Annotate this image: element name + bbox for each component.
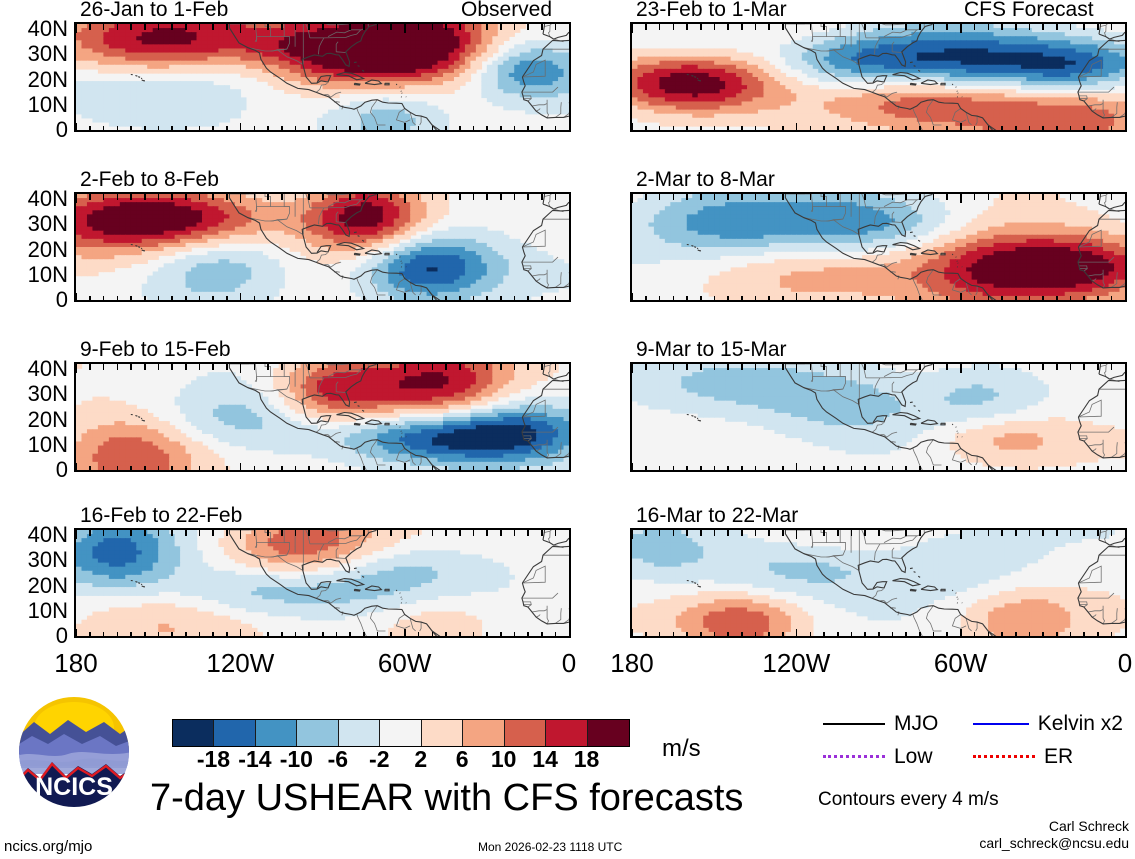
axis-tick [445, 530, 447, 536]
axis-tick [892, 530, 894, 536]
axis-tick [158, 466, 160, 472]
axis-tick [960, 293, 962, 302]
axis-tick [946, 24, 948, 30]
axis-tick [89, 126, 91, 132]
axis-tick [727, 530, 729, 536]
axis-tick [933, 24, 935, 30]
axis-tick [144, 530, 146, 536]
axis-tick [308, 194, 310, 200]
x-axis-label: 180 [610, 650, 653, 676]
axis-tick [377, 296, 379, 302]
colorbar-segment [505, 720, 546, 746]
axis-tick [960, 463, 962, 472]
axis-tick [851, 126, 853, 132]
axis-tick [240, 194, 242, 203]
axis-tick [117, 530, 119, 536]
axis-tick [158, 530, 160, 536]
axis-tick [1111, 364, 1113, 370]
axis-tick [473, 632, 475, 638]
axis-tick [686, 126, 688, 132]
axis-tick [336, 126, 338, 132]
axis-tick [1042, 194, 1044, 200]
axis-tick [714, 632, 716, 638]
axis-tick [500, 632, 502, 638]
axis-tick [500, 364, 502, 370]
axis-tick [1125, 123, 1127, 132]
axis-tick [514, 364, 516, 370]
axis-tick [1042, 364, 1044, 370]
axis-tick [974, 126, 976, 132]
axis-tick [445, 24, 447, 30]
axis-tick [254, 296, 256, 302]
axis-tick [1097, 194, 1099, 200]
axis-tick [226, 296, 228, 302]
axis-tick [659, 632, 661, 638]
colorbar-segment [297, 720, 338, 746]
axis-tick [700, 364, 702, 370]
axis-tick [1097, 24, 1099, 30]
axis-tick [1083, 194, 1085, 200]
axis-tick [727, 24, 729, 30]
column-label-observed: Observed [461, 0, 552, 20]
axis-tick [76, 463, 78, 472]
axis-tick [974, 632, 976, 638]
axis-tick [700, 24, 702, 30]
axis-tick [796, 194, 798, 203]
axis-tick [226, 530, 228, 536]
axis-tick [185, 296, 187, 302]
axis-tick [755, 632, 757, 638]
axis-tick [1029, 126, 1031, 132]
axis-tick [700, 194, 702, 200]
axis-tick [946, 530, 948, 536]
axis-tick [171, 364, 173, 370]
axis-tick [130, 632, 132, 638]
axis-tick [823, 296, 825, 302]
axis-tick [199, 296, 201, 302]
axis-tick [130, 530, 132, 536]
axis-tick [1029, 364, 1031, 370]
axis-tick [500, 24, 502, 30]
axis-tick [404, 293, 406, 302]
axis-tick [541, 24, 543, 30]
axis-tick [974, 466, 976, 472]
axis-tick [171, 530, 173, 536]
axis-tick [486, 466, 488, 472]
axis-tick [864, 632, 866, 638]
axis-tick [905, 126, 907, 132]
axis-tick [1056, 126, 1058, 132]
axis-tick [645, 296, 647, 302]
axis-tick [377, 194, 379, 200]
axis-tick [1125, 463, 1127, 472]
axis-tick [988, 632, 990, 638]
y-axis-label: 0 [0, 119, 68, 141]
axis-tick [117, 632, 119, 638]
axis-tick [933, 126, 935, 132]
axis-tick [158, 364, 160, 370]
legend-item-mjo: MJO [823, 713, 973, 734]
axis-tick [459, 632, 461, 638]
map-panel [630, 192, 1127, 302]
axis-tick [527, 194, 529, 200]
axis-tick [500, 466, 502, 472]
axis-tick [295, 364, 297, 370]
axis-tick [281, 194, 283, 200]
panel-title: 16-Mar to 22-Mar [636, 505, 798, 526]
axis-tick [782, 296, 784, 302]
axis-tick [363, 296, 365, 302]
axis-tick [377, 24, 379, 30]
axis-tick [837, 194, 839, 200]
axis-tick [322, 126, 324, 132]
axis-tick [89, 24, 91, 30]
axis-tick [390, 126, 392, 132]
axis-tick [254, 126, 256, 132]
axis-tick [555, 296, 557, 302]
axis-tick [700, 296, 702, 302]
axis-tick [569, 194, 571, 203]
colorbar-tick-label: -6 [328, 748, 348, 771]
axis-tick [541, 632, 543, 638]
y-axis-label: 10N [0, 94, 68, 116]
axis-tick [632, 463, 634, 472]
axis-tick [892, 126, 894, 132]
axis-tick [212, 364, 214, 370]
axis-tick [741, 194, 743, 200]
axis-tick [1001, 24, 1003, 30]
axis-tick [555, 466, 557, 472]
axis-tick [1125, 293, 1127, 302]
axis-tick [377, 364, 379, 370]
axis-tick [755, 24, 757, 30]
axis-tick [919, 364, 921, 370]
axis-tick [363, 126, 365, 132]
axis-tick [1083, 632, 1085, 638]
axis-tick [1125, 24, 1127, 33]
axis-tick [796, 364, 798, 373]
axis-tick [1097, 466, 1099, 472]
axis-tick [1015, 126, 1017, 132]
axis-tick [322, 632, 324, 638]
axis-tick [933, 632, 935, 638]
axis-tick [1111, 632, 1113, 638]
axis-tick [308, 530, 310, 536]
axis-tick [673, 24, 675, 30]
axis-tick [514, 530, 516, 536]
axis-tick [727, 466, 729, 472]
axis-tick [1111, 194, 1113, 200]
axis-tick [130, 194, 132, 200]
axis-tick [199, 24, 201, 30]
axis-tick [144, 632, 146, 638]
axis-tick [892, 364, 894, 370]
axis-tick [714, 296, 716, 302]
legend-row: LowER [823, 746, 1123, 767]
axis-tick [1056, 466, 1058, 472]
axis-tick [295, 126, 297, 132]
axis-tick [569, 24, 571, 33]
axis-tick [445, 466, 447, 472]
axis-tick [741, 632, 743, 638]
axis-tick [851, 194, 853, 200]
axis-tick [459, 364, 461, 370]
axis-tick [158, 632, 160, 638]
axis-tick [823, 530, 825, 536]
axis-tick [254, 364, 256, 370]
axis-tick [659, 296, 661, 302]
axis-tick [632, 293, 634, 302]
axis-tick [727, 296, 729, 302]
x-axis-label: 0 [562, 650, 576, 676]
axis-tick [432, 24, 434, 30]
axis-tick [1111, 24, 1113, 30]
axis-tick [864, 126, 866, 132]
axis-tick [946, 126, 948, 132]
axis-tick [796, 629, 798, 638]
axis-tick [1056, 530, 1058, 536]
axis-tick [432, 126, 434, 132]
axis-tick [1056, 194, 1058, 200]
axis-tick [103, 126, 105, 132]
colorbar-tick-label: 10 [491, 748, 517, 771]
axis-tick [632, 194, 634, 203]
axis-tick [988, 364, 990, 370]
axis-tick [390, 530, 392, 536]
site-url-label: ncics.org/mjo [4, 838, 92, 855]
axis-tick [1029, 194, 1031, 200]
axis-tick [514, 466, 516, 472]
y-axis-label: 0 [0, 289, 68, 311]
axis-tick [645, 24, 647, 30]
axis-tick [555, 530, 557, 536]
axis-tick [837, 364, 839, 370]
axis-tick [714, 466, 716, 472]
axis-tick [768, 24, 770, 30]
axis-tick [363, 632, 365, 638]
axis-tick [432, 364, 434, 370]
axis-tick [404, 530, 406, 539]
ncics-logo: NCICS [16, 694, 132, 810]
axis-tick [240, 463, 242, 472]
axis-tick [933, 364, 935, 370]
axis-tick [782, 466, 784, 472]
axis-tick [974, 296, 976, 302]
axis-tick [171, 194, 173, 200]
axis-tick [1056, 296, 1058, 302]
axis-tick [185, 126, 187, 132]
axis-tick [473, 24, 475, 30]
axis-tick [823, 632, 825, 638]
axis-tick [960, 530, 962, 539]
axis-tick [308, 364, 310, 370]
axis-tick [185, 364, 187, 370]
axis-tick [254, 24, 256, 30]
axis-tick [974, 530, 976, 536]
axis-tick [919, 296, 921, 302]
contours-note: Contours every 4 m/s [818, 789, 999, 811]
colorbar-segment [463, 720, 504, 746]
axis-tick [1111, 296, 1113, 302]
colorbar-units-label: m/s [662, 735, 701, 763]
axis-tick [130, 364, 132, 370]
axis-tick [755, 530, 757, 536]
axis-tick [892, 296, 894, 302]
y-axis-label: 10N [0, 434, 68, 456]
panel-title: 2-Mar to 8-Mar [636, 169, 775, 190]
axis-tick [823, 126, 825, 132]
axis-tick [254, 466, 256, 472]
axis-tick [569, 629, 571, 638]
axis-tick [267, 126, 269, 132]
axis-tick [1111, 530, 1113, 536]
y-axis-label: 30N [0, 383, 68, 405]
axis-tick [418, 296, 420, 302]
axis-tick [267, 194, 269, 200]
axis-tick [500, 194, 502, 200]
axis-tick [363, 466, 365, 472]
y-axis-label: 40N [0, 18, 68, 40]
axis-tick [144, 466, 146, 472]
y-axis-label: 20N [0, 239, 68, 261]
axis-tick [281, 530, 283, 536]
axis-tick [796, 293, 798, 302]
axis-tick [212, 632, 214, 638]
panel-title: 16-Feb to 22-Feb [80, 505, 242, 526]
axis-tick [445, 126, 447, 132]
axis-tick [117, 466, 119, 472]
axis-tick [527, 296, 529, 302]
colorbar-segment [339, 720, 380, 746]
axis-tick [755, 364, 757, 370]
axis-tick [878, 632, 880, 638]
axis-tick [755, 194, 757, 200]
axis-tick [404, 194, 406, 203]
axis-tick [768, 194, 770, 200]
axis-tick [514, 632, 516, 638]
axis-tick [686, 364, 688, 370]
axis-tick [1001, 126, 1003, 132]
axis-tick [103, 296, 105, 302]
axis-tick [1015, 530, 1017, 536]
axis-tick [837, 632, 839, 638]
axis-tick [645, 364, 647, 370]
axis-tick [76, 24, 78, 33]
axis-tick [514, 296, 516, 302]
axis-tick [1083, 296, 1085, 302]
axis-tick [988, 194, 990, 200]
axis-tick [281, 126, 283, 132]
axis-tick [1083, 364, 1085, 370]
axis-tick [349, 466, 351, 472]
axis-tick [741, 126, 743, 132]
axis-tick [541, 296, 543, 302]
axis-tick [905, 632, 907, 638]
axis-tick [686, 530, 688, 536]
axis-tick [418, 126, 420, 132]
legend-label: MJO [894, 713, 938, 734]
axis-tick [946, 466, 948, 472]
axis-tick [1042, 296, 1044, 302]
axis-tick [363, 24, 365, 30]
axis-tick [158, 194, 160, 200]
axis-tick [700, 530, 702, 536]
axis-tick [76, 123, 78, 132]
axis-tick [569, 293, 571, 302]
axis-tick [1125, 530, 1127, 539]
panel-title: 26-Jan to 1-Feb [80, 0, 228, 20]
legend-row: MJOKelvin x2 [823, 713, 1123, 734]
axis-tick [810, 466, 812, 472]
axis-tick [851, 364, 853, 370]
axis-tick [336, 24, 338, 30]
panel-title: 23-Feb to 1-Mar [636, 0, 787, 20]
axis-tick [363, 364, 365, 370]
axis-tick [700, 126, 702, 132]
axis-tick [960, 629, 962, 638]
axis-tick [569, 530, 571, 539]
axis-tick [555, 632, 557, 638]
y-axis-label: 30N [0, 213, 68, 235]
axis-tick [459, 126, 461, 132]
axis-tick [130, 24, 132, 30]
map-panel [630, 362, 1127, 472]
axis-tick [500, 530, 502, 536]
axis-tick [645, 466, 647, 472]
axis-tick [295, 530, 297, 536]
axis-tick [390, 364, 392, 370]
axis-tick [673, 126, 675, 132]
axis-tick [851, 632, 853, 638]
axis-tick [1097, 296, 1099, 302]
axis-tick [144, 126, 146, 132]
axis-tick [632, 24, 634, 33]
axis-tick [89, 296, 91, 302]
axis-tick [659, 530, 661, 536]
axis-tick [673, 632, 675, 638]
axis-tick [226, 364, 228, 370]
axis-tick [130, 466, 132, 472]
axis-tick [89, 530, 91, 536]
y-axis-label: 10N [0, 264, 68, 286]
axis-tick [919, 466, 921, 472]
axis-tick [933, 194, 935, 200]
axis-tick [1015, 24, 1017, 30]
axis-tick [377, 126, 379, 132]
axis-tick [199, 364, 201, 370]
axis-tick [823, 24, 825, 30]
axis-tick [76, 364, 78, 373]
axis-tick [768, 296, 770, 302]
axis-tick [473, 194, 475, 200]
axis-tick [144, 296, 146, 302]
axis-tick [1070, 364, 1072, 370]
axis-tick [459, 296, 461, 302]
axis-tick [659, 126, 661, 132]
axis-tick [1001, 632, 1003, 638]
map-panel [630, 22, 1127, 132]
axis-tick [919, 126, 921, 132]
axis-tick [1001, 296, 1003, 302]
axis-tick [714, 194, 716, 200]
axis-tick [445, 364, 447, 370]
axis-tick [1015, 632, 1017, 638]
axis-tick [810, 194, 812, 200]
axis-tick [1070, 296, 1072, 302]
y-axis-label: 40N [0, 358, 68, 380]
axis-tick [308, 24, 310, 30]
axis-tick [541, 466, 543, 472]
